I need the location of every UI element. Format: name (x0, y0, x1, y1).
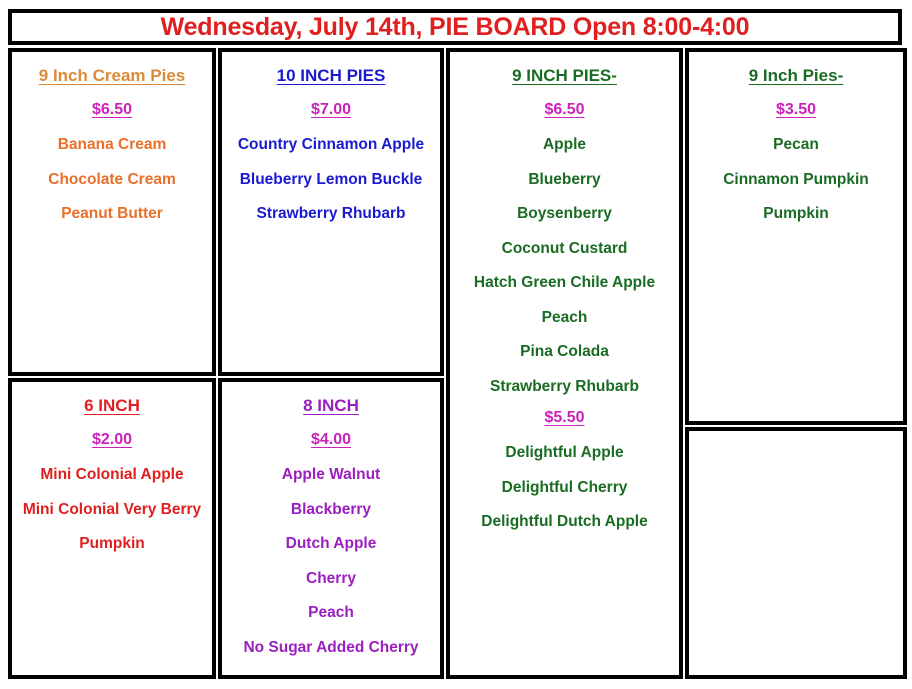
pie-item: Country Cinnamon Apple (222, 137, 440, 153)
section-nine-inch-pies: 9 INCH PIES- $6.50 Apple Blueberry Boyse… (446, 48, 683, 679)
section-cream-pies: 9 Inch Cream Pies $6.50 Banana Cream Cho… (8, 48, 216, 376)
pie-item: Delightful Apple (450, 445, 679, 461)
pie-item: Peach (222, 605, 440, 621)
board-title-bar: Wednesday, July 14th, PIE BOARD Open 8:0… (8, 9, 902, 45)
pie-item: Apple (450, 137, 679, 153)
pie-item: Blackberry (222, 502, 440, 518)
section-six-inch: 6 INCH $2.00 Mini Colonial Apple Mini Co… (8, 378, 216, 679)
pie-item: No Sugar Added Cherry (222, 640, 440, 656)
pie-item: Dutch Apple (222, 536, 440, 552)
pie-item: Pina Colada (450, 344, 679, 360)
pie-item: Blueberry Lemon Buckle (222, 172, 440, 188)
section-nine-inch-pies-small: 9 Inch Pies- $3.50 Pecan Cinnamon Pumpki… (685, 48, 907, 425)
section-price: $7.00 (222, 102, 440, 118)
pie-item: Blueberry (450, 172, 679, 188)
pie-item: Delightful Cherry (450, 480, 679, 496)
pie-item: Boysenberry (450, 206, 679, 222)
pie-item: Apple Walnut (222, 467, 440, 483)
pie-board: Wednesday, July 14th, PIE BOARD Open 8:0… (0, 0, 912, 689)
pie-item: Coconut Custard (450, 241, 679, 257)
section-heading: 10 INCH PIES (222, 67, 440, 84)
pie-item: Pumpkin (12, 536, 212, 552)
pie-item: Mini Colonial Very Berry (12, 502, 212, 518)
section-heading: 6 INCH (12, 397, 212, 414)
pie-item: Pumpkin (689, 206, 903, 222)
section-price: $6.50 (450, 102, 679, 118)
section-heading: 9 Inch Cream Pies (12, 67, 212, 84)
pie-item: Cinnamon Pumpkin (689, 172, 903, 188)
section-heading: 9 Inch Pies- (689, 67, 903, 84)
section-price: $4.00 (222, 432, 440, 448)
section-price: $6.50 (12, 102, 212, 118)
section-ten-inch-pies: 10 INCH PIES $7.00 Country Cinnamon Appl… (218, 48, 444, 376)
section-heading: 8 INCH (222, 397, 440, 414)
pie-item: Strawberry Rhubarb (222, 206, 440, 222)
pie-item: Peanut Butter (12, 206, 212, 222)
pie-item: Mini Colonial Apple (12, 467, 212, 483)
pie-item: Strawberry Rhubarb (450, 379, 679, 395)
section-price: $2.00 (12, 432, 212, 448)
pie-item: Hatch Green Chile Apple (450, 275, 679, 291)
pie-item: Peach (450, 310, 679, 326)
pie-item: Banana Cream (12, 137, 212, 153)
section-price-secondary: $5.50 (450, 410, 679, 426)
section-empty-panel (685, 427, 907, 679)
section-heading: 9 INCH PIES- (450, 67, 679, 84)
page-title: Wednesday, July 14th, PIE BOARD Open 8:0… (161, 13, 750, 42)
section-price: $3.50 (689, 102, 903, 118)
pie-item: Cherry (222, 571, 440, 587)
pie-item: Pecan (689, 137, 903, 153)
section-eight-inch: 8 INCH $4.00 Apple Walnut Blackberry Dut… (218, 378, 444, 679)
pie-item: Delightful Dutch Apple (450, 514, 679, 530)
pie-item: Chocolate Cream (12, 172, 212, 188)
